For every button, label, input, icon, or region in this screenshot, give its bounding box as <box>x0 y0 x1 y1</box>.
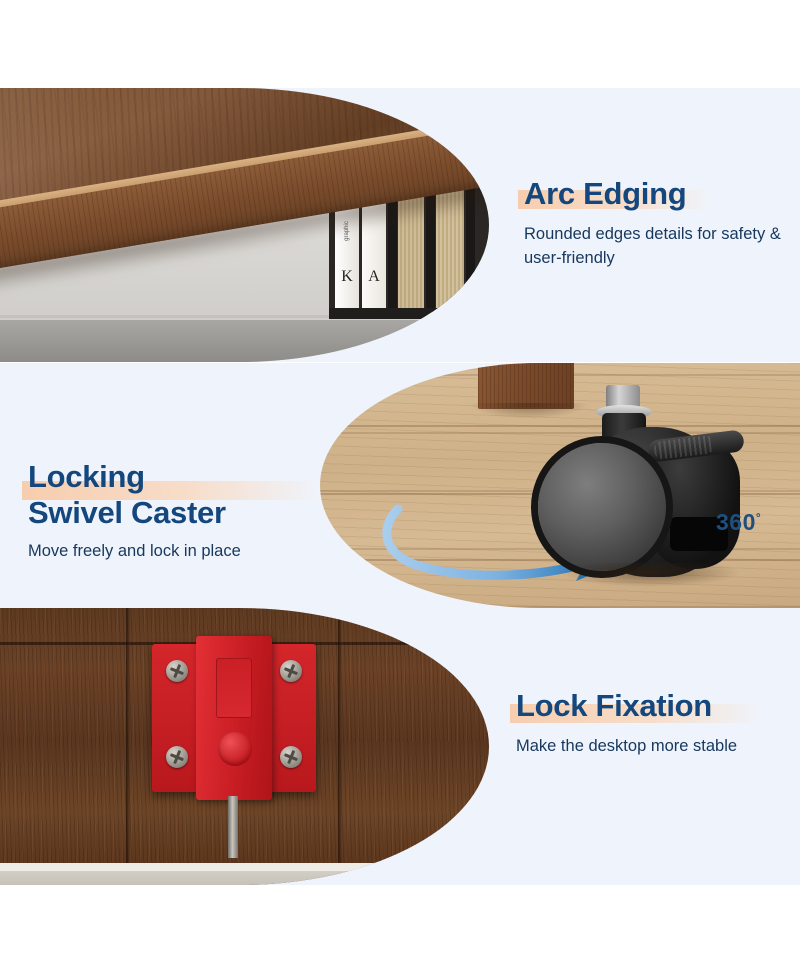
headline-locking-caster: Locking Swivel Caster <box>28 459 226 531</box>
photo-locking-caster: 360° <box>320 363 800 608</box>
rotation-degree-label: 360° <box>716 509 761 536</box>
lock-knob <box>218 732 252 766</box>
lock-scene <box>0 608 489 885</box>
caster-wheel-face <box>538 443 666 571</box>
subcopy-arc-edging: Rounded edges details for safety & user-… <box>524 223 786 271</box>
subcopy-lock-fixation: Make the desktop more stable <box>516 735 792 759</box>
caster-wheel-assembly <box>520 385 750 585</box>
photo-lock-fixation <box>0 608 489 885</box>
book-letter-a: A <box>368 268 380 286</box>
subcopy-locking-caster: Move freely and lock in place <box>28 540 358 564</box>
caster-scene: 360° <box>320 363 800 608</box>
section-locking-swivel-caster: 360° Locking Swivel Caster Move freely a… <box>0 363 800 608</box>
infographic-page: graphic K A <box>0 0 800 977</box>
wall-base <box>0 320 489 362</box>
headline-arc-text: Arc Edging <box>524 176 686 211</box>
screw-bottom-right <box>280 746 302 768</box>
headline-caster-line1: Locking <box>28 459 145 494</box>
caster-shadow <box>560 563 740 587</box>
headline-lock-fixation: Lock Fixation <box>516 688 712 724</box>
screw-bottom-left <box>166 746 188 768</box>
floor-gap-highlight <box>0 863 489 871</box>
headline-lock-text: Lock Fixation <box>516 688 712 723</box>
section-arc-edging: graphic K A <box>0 88 800 362</box>
shelf-rail <box>329 308 489 319</box>
section-lock-fixation: Lock Fixation Make the desktop more stab… <box>0 608 800 885</box>
barrel-bolt-lock <box>152 636 316 804</box>
headline-caster-line2: Swivel Caster <box>28 495 226 530</box>
copy-arc-edging: Arc Edging Rounded edges details for saf… <box>524 176 786 271</box>
copy-lock-fixation: Lock Fixation Make the desktop more stab… <box>516 688 792 759</box>
panel-divider-left <box>126 608 130 885</box>
rotation-degree-value: 360 <box>716 509 756 535</box>
copy-locking-caster: Locking Swivel Caster Move freely and lo… <box>28 459 358 564</box>
desk-corner-scene: graphic K A <box>0 88 489 362</box>
screw-top-right <box>280 660 302 682</box>
degree-symbol: ° <box>756 510 761 524</box>
lock-metal-pin <box>228 796 238 858</box>
headline-arc-edging: Arc Edging <box>524 176 686 212</box>
panel-divider-right <box>338 608 342 885</box>
lock-slide-slot <box>216 658 252 718</box>
photo-arc-edging: graphic K A <box>0 88 489 362</box>
book-letter-k: K <box>341 268 353 286</box>
screw-top-left <box>166 660 188 682</box>
